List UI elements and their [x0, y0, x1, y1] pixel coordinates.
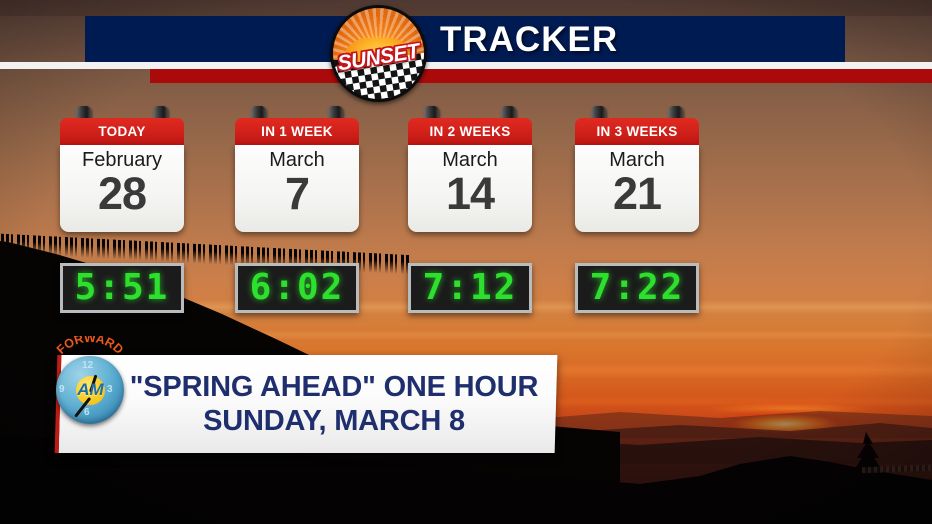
sunset-time-week2: 7:12 [408, 263, 532, 313]
page-title: TRACKER [440, 20, 618, 59]
sunset-time-today: 5:51 [60, 263, 184, 313]
banner-text: "SPRING AHEAD" ONE HOUR SUNDAY, MARCH 8 [118, 363, 550, 445]
banner-line-2: SUNDAY, MARCH 8 [203, 404, 465, 438]
calendar-card-week2: IN 2 WEEKS March 14 [408, 118, 532, 232]
calendar-card-week3: IN 3 WEEKS March 21 [575, 118, 699, 232]
forward-arc-textpath: FORWARD [54, 336, 126, 357]
led-time-text: 6:02 [250, 269, 345, 307]
calendar-body: March 21 [575, 145, 699, 232]
header-red-stripe [150, 69, 932, 83]
calendar-card-today: TODAY February 28 [60, 118, 184, 232]
calendar-label: IN 3 WEEKS [575, 118, 699, 145]
calendar-day: 14 [446, 170, 494, 218]
calendar-body: February 28 [60, 145, 184, 232]
banner-line-1: "SPRING AHEAD" ONE HOUR [130, 370, 539, 404]
top-shade [0, 0, 932, 16]
led-time-text: 5:51 [75, 269, 170, 307]
led-time-text: 7:12 [423, 269, 518, 307]
calendar-body: March 14 [408, 145, 532, 232]
header-white-stripe [0, 62, 932, 69]
calendar-label: TODAY [60, 118, 184, 145]
calendar-card-week1: IN 1 WEEK March 7 [235, 118, 359, 232]
sunset-logo-icon: SUNSET [330, 5, 427, 102]
forward-arc-label: FORWARD [44, 336, 132, 428]
calendar-day: 7 [285, 170, 309, 218]
forward-arc-text: FORWARD [54, 336, 126, 357]
calendar-day: 21 [613, 170, 661, 218]
clock-forward-icon: 12 3 6 9 AM FORWARD [44, 336, 132, 428]
calendar-label: IN 2 WEEKS [408, 118, 532, 145]
calendar-label: IN 1 WEEK [235, 118, 359, 145]
sunset-tracker-graphic: TRACKER SUNSET TODAY February 28 IN 1 WE… [0, 0, 932, 524]
calendar-body: March 7 [235, 145, 359, 232]
led-time-text: 7:22 [590, 269, 685, 307]
calendar-day: 28 [98, 170, 146, 218]
sunset-time-week1: 6:02 [235, 263, 359, 313]
sunset-time-week3: 7:22 [575, 263, 699, 313]
